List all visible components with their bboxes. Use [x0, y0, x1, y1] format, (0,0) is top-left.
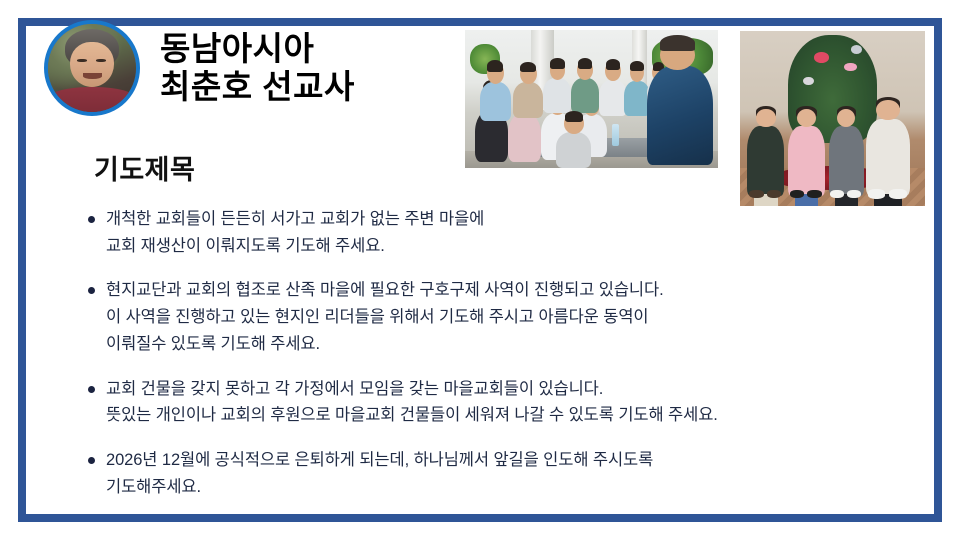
bullet-dot-icon — [88, 287, 95, 294]
prayer-request-item: 교회 건물을 갖지 못하고 각 가정에서 모임을 갖는 마을교회들이 있습니다.… — [88, 376, 920, 429]
prayer-request-text: 개척한 교회들이 든든히 서가고 교회가 없는 주변 마을에 교회 재생산이 이… — [106, 206, 484, 259]
avatar — [44, 20, 140, 116]
prayer-line: 개척한 교회들이 든든히 서가고 교회가 없는 주변 마을에 — [106, 206, 484, 233]
prayer-line: 뜻있는 개인이나 교회의 후원으로 마을교회 건물들이 세워져 나갈 수 있도록… — [106, 402, 718, 429]
prayer-line: 현지교단과 교회의 협조로 산족 마을에 필요한 구호구제 사역이 진행되고 있… — [106, 277, 664, 304]
prayer-request-item: 개척한 교회들이 든든히 서가고 교회가 없는 주변 마을에 교회 재생산이 이… — [88, 206, 920, 259]
missionary-name: 최춘호 선교사 — [160, 68, 355, 106]
prayer-line: 기도해주세요. — [106, 474, 653, 501]
prayer-line: 이뤄질수 있도록 기도해 주세요. — [106, 331, 664, 358]
section-title: 기도제목 — [94, 148, 195, 187]
group-meeting-photo — [465, 30, 718, 168]
prayer-line: 2026년 12월에 공식적으로 은퇴하게 되는데, 하나님께서 앞길을 인도해… — [106, 447, 653, 474]
prayer-request-text: 교회 건물을 갖지 못하고 각 가정에서 모임을 갖는 마을교회들이 있습니다.… — [106, 376, 718, 429]
prayer-request-item: 2026년 12월에 공식적으로 은퇴하게 되는데, 하나님께서 앞길을 인도해… — [88, 447, 920, 500]
presentation-slide: 동남아시아 최춘호 선교사 기도제목 — [0, 0, 960, 540]
prayer-line: 이 사역을 진행하고 있는 현지인 리더들을 위해서 기도해 주시고 아름다운 … — [106, 304, 664, 331]
prayer-request-item: 현지교단과 교회의 협조로 산족 마을에 필요한 구호구제 사역이 진행되고 있… — [88, 277, 920, 357]
prayer-line: 교회 건물을 갖지 못하고 각 가정에서 모임을 갖는 마을교회들이 있습니다. — [106, 376, 718, 403]
prayer-request-text: 2026년 12월에 공식적으로 은퇴하게 되는데, 하나님께서 앞길을 인도해… — [106, 447, 653, 500]
region-title: 동남아시아 — [160, 30, 355, 68]
bullet-dot-icon — [88, 216, 95, 223]
prayer-request-text: 현지교단과 교회의 협조로 산족 마을에 필요한 구호구제 사역이 진행되고 있… — [106, 277, 664, 357]
family-christmas-photo — [740, 31, 925, 206]
bullet-dot-icon — [88, 386, 95, 393]
slide-header: 동남아시아 최춘호 선교사 — [44, 20, 355, 116]
bullet-dot-icon — [88, 457, 95, 464]
prayer-request-list: 개척한 교회들이 든든히 서가고 교회가 없는 주변 마을에 교회 재생산이 이… — [88, 206, 920, 518]
title-block: 동남아시아 최춘호 선교사 — [160, 30, 355, 107]
prayer-line: 교회 재생산이 이뤄지도록 기도해 주세요. — [106, 233, 484, 260]
